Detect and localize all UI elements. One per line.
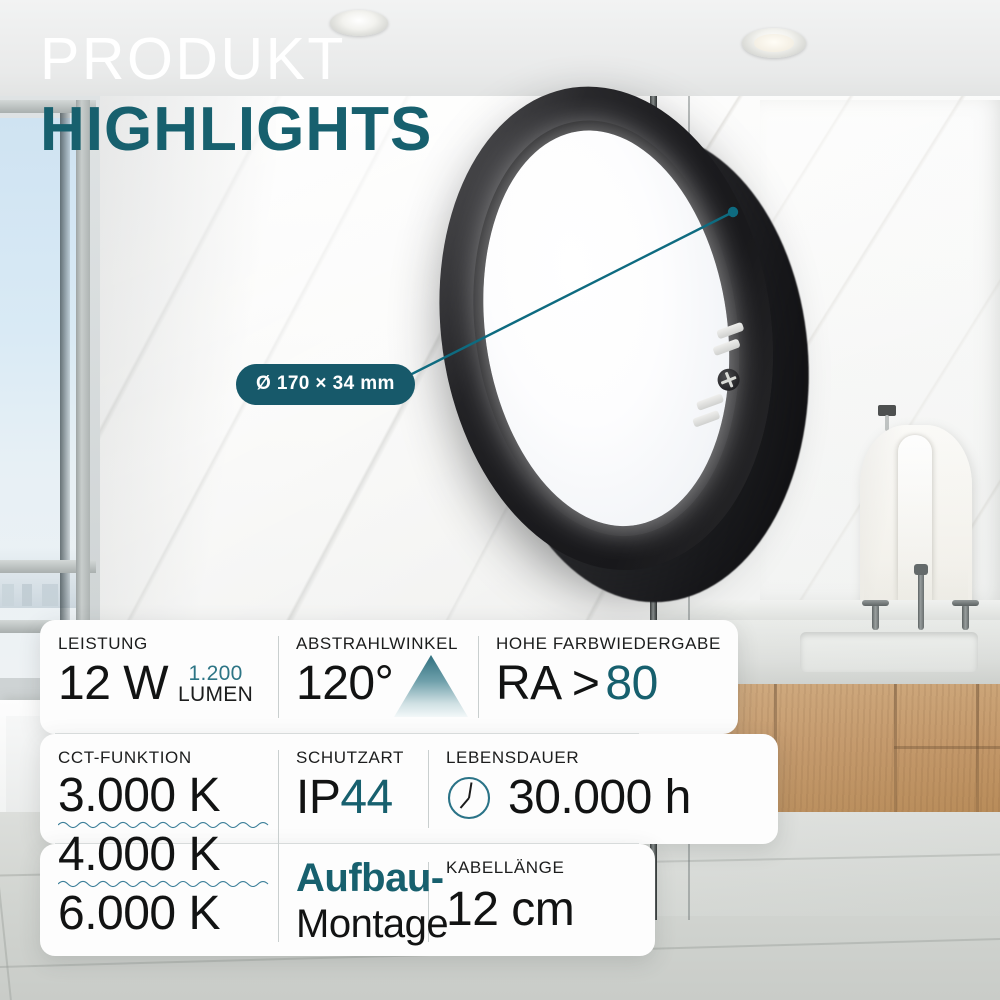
- spec-kabellaenge-value: 12 cm: [446, 886, 574, 934]
- spec-schutzart: SCHUTZART IP44: [296, 748, 404, 822]
- spec-lebensdauer: LEBENSDAUER 30.000 h: [446, 748, 691, 822]
- robe-hook-icon: [878, 405, 896, 416]
- spec-lumen-number: 1.200: [178, 663, 253, 684]
- spec-lumen-unit: LUMEN: [178, 684, 253, 705]
- card-divider: [55, 733, 639, 734]
- spec-cct-value-2: 4.000 K: [58, 831, 272, 879]
- title-line-2: HIGHLIGHTS: [40, 93, 432, 166]
- cell-separator: [278, 750, 279, 942]
- tile-seam: [0, 812, 12, 1000]
- cct-wave-separator: [58, 820, 272, 829]
- spec-leistung-caption: LEISTUNG: [58, 634, 253, 654]
- spec-farbwiedergabe: HOHE FARBWIEDERGABE RA >80: [496, 634, 721, 708]
- infographic-stage: Ø 170 × 34 mm PRODUKT HIGHLIGHTS LEISTUN…: [0, 0, 1000, 1000]
- vanity-countertop: [654, 600, 1000, 622]
- sink-basin: [800, 632, 978, 672]
- vent-slot-icon: [696, 393, 724, 411]
- spec-ra-prefix: RA >: [496, 657, 599, 710]
- title-line-1: PRODUKT: [40, 30, 432, 89]
- ceiling-spotlight-icon: [742, 28, 806, 58]
- screw-icon: [716, 367, 741, 392]
- spec-abstrahlwinkel-caption: ABSTRAHLWINKEL: [296, 634, 458, 654]
- cell-separator: [278, 636, 279, 718]
- window-reveal: [60, 108, 70, 696]
- faucet-handle: [872, 604, 879, 630]
- clock-icon: [446, 775, 492, 821]
- lamp-inner-rim: [447, 103, 765, 553]
- spec-cct-value-3: 6.000 K: [58, 890, 272, 938]
- spec-montage-accent: Aufbau-: [296, 858, 448, 898]
- spec-ip-prefix: IP: [296, 771, 340, 824]
- lamp-diffuser: [459, 114, 754, 542]
- page-title: PRODUKT HIGHLIGHTS: [40, 30, 432, 166]
- spec-cct: CCT-FUNKTION 3.000 K 4.000 K 6.000 K: [58, 748, 272, 938]
- spec-lebensdauer-value: 30.000 h: [508, 774, 691, 822]
- cct-wave-separator: [58, 879, 272, 888]
- spec-leistung-value: 12 W: [58, 660, 168, 708]
- dimension-badge: Ø 170 × 34 mm: [236, 364, 415, 405]
- spec-cct-value-1: 3.000 K: [58, 772, 272, 820]
- spec-cct-caption: CCT-FUNKTION: [58, 748, 272, 768]
- cell-separator: [478, 636, 479, 718]
- spec-lumen-group: 1.200 LUMEN: [178, 663, 253, 706]
- faucet-icon: [918, 572, 924, 630]
- spec-ra-value: 80: [605, 657, 657, 710]
- vent-slot-icon: [716, 322, 744, 340]
- faucet-handle: [962, 604, 969, 630]
- spec-kabellaenge-caption: KABELLÄNGE: [446, 858, 574, 878]
- led-ceiling-lamp-product: [398, 55, 833, 611]
- vent-slot-icon: [712, 338, 740, 356]
- spec-lebensdauer-caption: LEBENSDAUER: [446, 748, 691, 768]
- spec-schutzart-caption: SCHUTZART: [296, 748, 404, 768]
- spec-montage: Aufbau- Montage: [296, 858, 448, 944]
- spec-kabellaenge: KABELLÄNGE 12 cm: [446, 858, 574, 934]
- spec-farbwiedergabe-caption: HOHE FARBWIEDERGABE: [496, 634, 721, 654]
- spec-leistung: LEISTUNG 12 W 1.200 LUMEN: [58, 634, 253, 708]
- vent-slot-icon: [692, 410, 720, 428]
- cabinet-gap: [894, 746, 1000, 749]
- cell-separator: [428, 750, 429, 828]
- spec-ip-value: 44: [340, 771, 392, 824]
- window-frame: [76, 100, 90, 700]
- spec-montage-rest: Montage: [296, 904, 448, 944]
